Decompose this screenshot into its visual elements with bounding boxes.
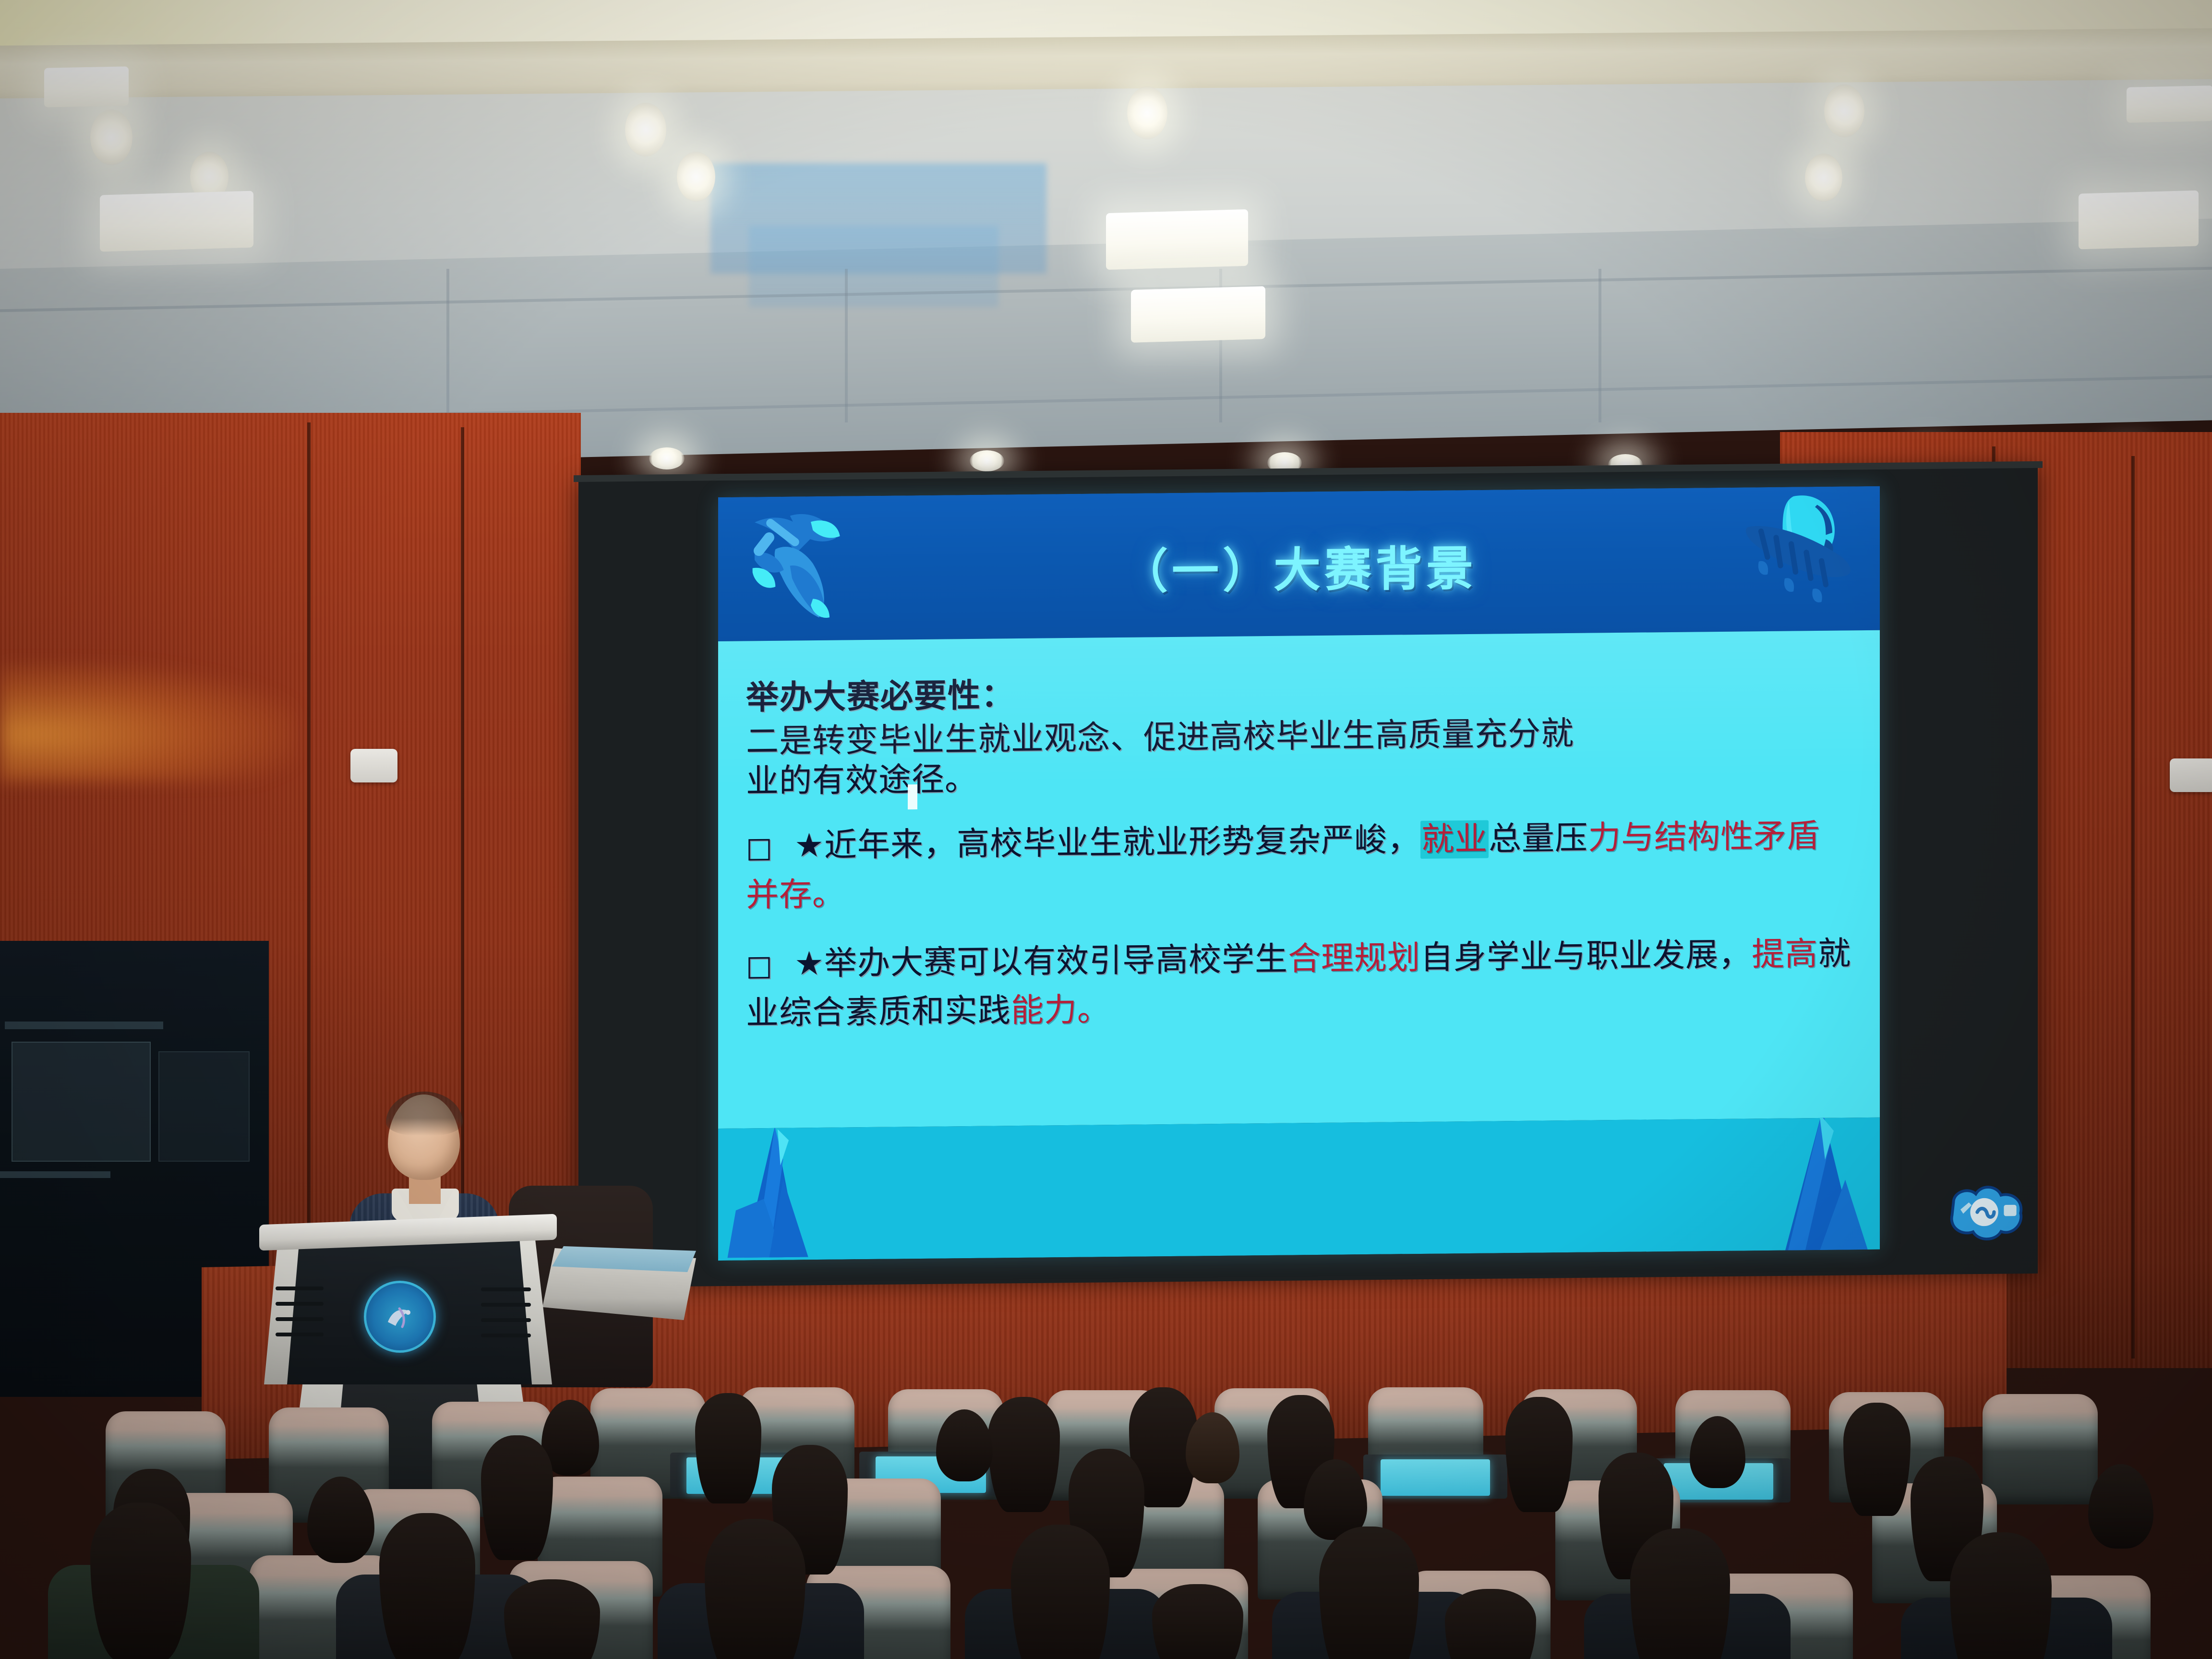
audience-head: [1843, 1403, 1911, 1516]
bullet-1-seg-1: 就业: [1420, 820, 1489, 858]
slide-bullet-1: □ ★近年来，高校毕业生就业形势复杂严峻，就业总量压力与结构性矛盾并存。: [746, 811, 1852, 920]
presenter-hair: [386, 1092, 463, 1136]
ceiling-downlight: [1127, 86, 1167, 139]
lecture-hall-scene: （一）大赛背景 举办大赛必要性： 二是转变毕业生就业观念、促进高校毕业生高质量充…: [0, 0, 2212, 1659]
bullet-box-icon: □: [746, 949, 773, 982]
ceiling-downlight: [625, 103, 666, 156]
audience-head: [1950, 1532, 2052, 1659]
audience-head: [504, 1579, 600, 1659]
audience-head: [1505, 1397, 1573, 1512]
bullet-2-seg-6: 能力。: [1011, 991, 1110, 1030]
soffit-downlight: [649, 447, 685, 469]
audience-area: [0, 1382, 2212, 1659]
alcove-rail: [0, 1171, 110, 1178]
ceiling-downlight: [90, 109, 132, 165]
slide-bullet-2: □ ★举办大赛可以有效引导高校学生合理规划自身学业与职业发展，提高就业综合素质和…: [746, 929, 1852, 1038]
slide-header: （一）大赛背景: [718, 486, 1880, 641]
soffit-downlight: [970, 450, 1004, 471]
ceiling-panel-light: [44, 66, 129, 107]
ceiling-grid-beam: [845, 269, 848, 422]
wall-switch-plate[interactable]: [350, 749, 397, 782]
podium-vent: [276, 1286, 324, 1290]
presentation-slide[interactable]: （一）大赛背景 举办大赛必要性： 二是转变毕业生就业观念、促进高校毕业生高质量充…: [718, 486, 1880, 1261]
audience-head: [695, 1393, 761, 1503]
alcove-glass-panel: [12, 1042, 151, 1162]
podium-vent: [481, 1287, 531, 1291]
audience-head: [90, 1503, 191, 1659]
bullet-2-seg-4: 提高: [1752, 935, 1818, 974]
audience-head: [1319, 1527, 1419, 1659]
audience-head: [1152, 1584, 1243, 1659]
ceiling-downlight: [1824, 84, 1864, 137]
wps-floating-toolbar[interactable]: [1939, 1178, 2031, 1246]
ceiling-downlight: [1805, 154, 1842, 202]
wall-light-glow: [0, 662, 298, 782]
bullet-2-seg-1: 合理规划: [1288, 939, 1420, 978]
ceiling-grid-beam: [1599, 269, 1601, 422]
university-emblem-icon: [364, 1281, 436, 1353]
ceiling-panel-light: [1106, 209, 1248, 270]
bullet-box-icon: □: [746, 831, 773, 864]
ceiling-panel-light: [100, 191, 253, 252]
slide-body: 举办大赛必要性： 二是转变毕业生就业观念、促进高校毕业生高质量充分就 业的有效途…: [718, 630, 1880, 1129]
alcove-glass-panel: [158, 1051, 250, 1162]
ceiling-downlight: [677, 152, 715, 202]
bullet-1-seg-0: 近年来，高校毕业生就业形势复杂严峻，: [824, 821, 1420, 865]
slide-icon: [2004, 1205, 2016, 1216]
bullet-star-icon: ★: [794, 827, 824, 865]
audience-head: [1445, 1589, 1536, 1659]
wall-seam: [2131, 456, 2135, 1358]
audience-head: [705, 1519, 805, 1659]
ceiling-panel-light: [2079, 191, 2199, 250]
laptop-screen: [1381, 1459, 1490, 1496]
slide-footer-band: [718, 1118, 1880, 1261]
podium-vent: [481, 1303, 531, 1307]
bullet-star-icon: ★: [794, 945, 824, 983]
alcove-rail: [5, 1022, 163, 1029]
ceiling-grid-beam: [446, 269, 449, 427]
crystal-mountain-icon: [725, 1123, 883, 1261]
podium-vent: [481, 1334, 531, 1337]
ceiling-panel-light: [2127, 85, 2212, 123]
audience-head: [988, 1397, 1060, 1512]
auditorium-seat: [1983, 1394, 2098, 1504]
bullet-2-seg-3: 职业发展，: [1586, 936, 1752, 975]
bullet-1-seg-2: 总量压: [1489, 819, 1588, 858]
text-caret: [908, 784, 917, 809]
audience-head: [2088, 1464, 2153, 1549]
crystal-mountain-icon: [1719, 1118, 1877, 1256]
ceiling-panel-light: [1131, 286, 1265, 343]
slide-heading: 举办大赛必要性：: [746, 660, 1852, 718]
podium-vent: [276, 1302, 324, 1306]
bullet-2-seg-0: 举办大赛可以有效引导高校学生: [824, 940, 1288, 983]
wall-switch-plate[interactable]: [2170, 758, 2212, 792]
slide-title: （一）大赛背景: [718, 527, 1880, 606]
podium-vent: [276, 1333, 324, 1336]
bullet-2-seg-2: 自身学业与: [1420, 938, 1586, 977]
audience-head: [1011, 1525, 1110, 1659]
podium-vent: [481, 1318, 531, 1322]
audience-head: [379, 1513, 475, 1659]
podium-vent: [276, 1317, 324, 1321]
audience-head: [481, 1435, 553, 1560]
audience-head: [1630, 1528, 1730, 1659]
